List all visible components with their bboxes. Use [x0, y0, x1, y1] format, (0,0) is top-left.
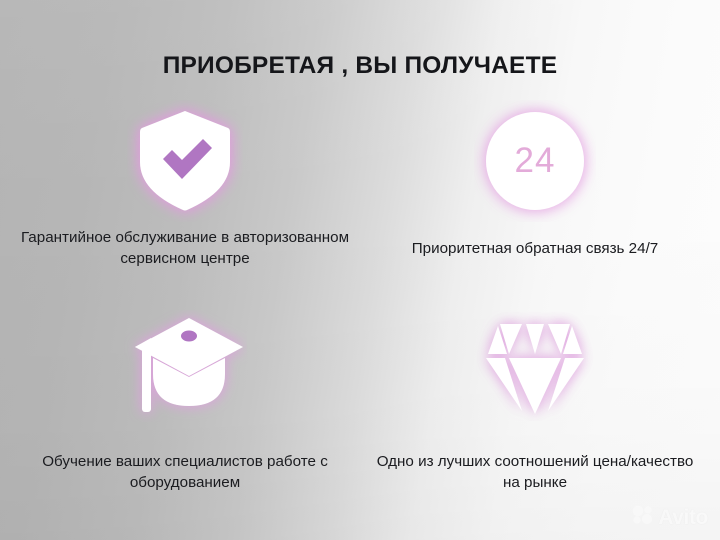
benefit-caption: Гарантийное обслуживание в авторизованно…	[20, 227, 350, 269]
benefit-item-value: Одно из лучших соотношений цена/качество…	[355, 305, 715, 493]
avito-watermark: Avito	[632, 505, 708, 530]
benefits-grid: Гарантийное обслуживание в авторизованно…	[0, 100, 720, 512]
page-title: ПРИОБРЕТАЯ , ВЫ ПОЛУЧАЕТЕ	[0, 52, 720, 80]
shield-check-icon	[127, 100, 243, 222]
graduation-cap-icon	[123, 305, 247, 427]
avito-dots-logo-icon	[632, 505, 654, 530]
benefit-caption: Обучение ваших специалистов работе с обо…	[20, 451, 350, 493]
circle-24-icon: 24	[474, 100, 596, 222]
avito-wordmark: Avito	[658, 506, 708, 530]
benefit-item-training: Обучение ваших специалистов работе с обо…	[5, 305, 365, 493]
diamond-icon	[476, 305, 594, 427]
benefit-caption: Одно из лучших соотношений цена/качество…	[370, 451, 700, 493]
benefit-caption: Приоритетная обратная связь 24/7	[412, 238, 659, 259]
benefit-item-warranty: Гарантийное обслуживание в авторизованно…	[5, 100, 365, 269]
slide-canvas: ПРИОБРЕТАЯ , ВЫ ПОЛУЧАЕТЕ	[0, 0, 720, 540]
benefit-item-support: 24 Приоритетная обратная связь 24/7	[355, 100, 715, 259]
